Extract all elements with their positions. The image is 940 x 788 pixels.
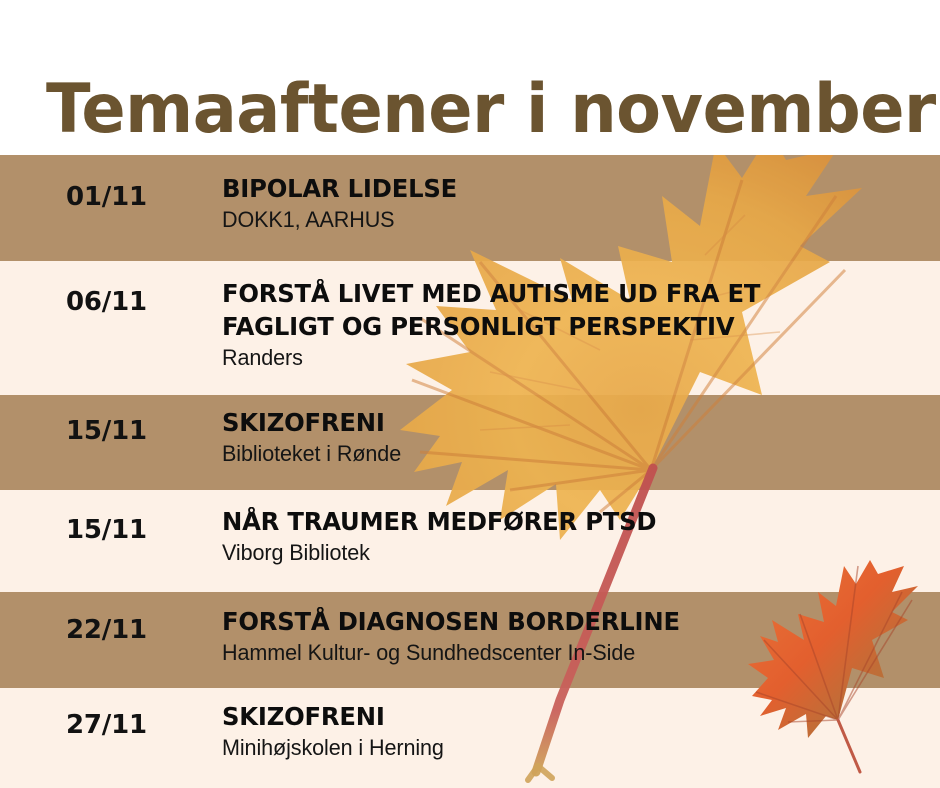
event-date: 22/11: [66, 615, 147, 645]
event-title: BIPOLAR LIDELSE: [222, 172, 909, 205]
event-details: NÅR TRAUMER MEDFØRER PTSD Viborg Bibliot…: [222, 505, 930, 568]
event-details: FORSTÅ LIVET MED AUTISME UD FRA ET FAGLI…: [222, 277, 930, 373]
poster-canvas: Temaaftener i november 01/11 BIPOLAR LID…: [0, 0, 940, 788]
event-venue: Minihøjskolen i Herning: [222, 733, 916, 763]
event-details: FORSTÅ DIAGNOSEN BORDERLINE Hammel Kultu…: [222, 605, 930, 668]
event-details: BIPOLAR LIDELSE DOKK1, AARHUS: [222, 172, 930, 235]
event-title-line2: FAGLIGT OG PERSONLIGT PERSPEKTIV: [222, 310, 909, 343]
event-venue: Hammel Kultur- og Sundhedscenter In-Side: [222, 638, 916, 668]
event-venue: Viborg Bibliotek: [222, 538, 916, 568]
event-details: SKIZOFRENI Minihøjskolen i Herning: [222, 700, 930, 763]
event-date: 15/11: [66, 416, 147, 446]
event-date: 01/11: [66, 182, 147, 212]
event-title: SKIZOFRENI: [222, 406, 909, 439]
event-title: FORSTÅ DIAGNOSEN BORDERLINE: [222, 605, 909, 638]
event-details: SKIZOFRENI Biblioteket i Rønde: [222, 406, 930, 469]
event-venue: Biblioteket i Rønde: [222, 439, 916, 469]
event-date: 27/11: [66, 710, 147, 740]
event-venue: Randers: [222, 343, 916, 373]
poster-header: Temaaftener i november: [0, 0, 940, 155]
event-title: NÅR TRAUMER MEDFØRER PTSD: [222, 505, 909, 538]
event-date: 15/11: [66, 515, 147, 545]
page-title: Temaaftener i november: [46, 72, 936, 148]
event-venue: DOKK1, AARHUS: [222, 205, 916, 235]
event-date: 06/11: [66, 287, 147, 317]
event-title: FORSTÅ LIVET MED AUTISME UD FRA ET: [222, 277, 909, 310]
event-title: SKIZOFRENI: [222, 700, 909, 733]
